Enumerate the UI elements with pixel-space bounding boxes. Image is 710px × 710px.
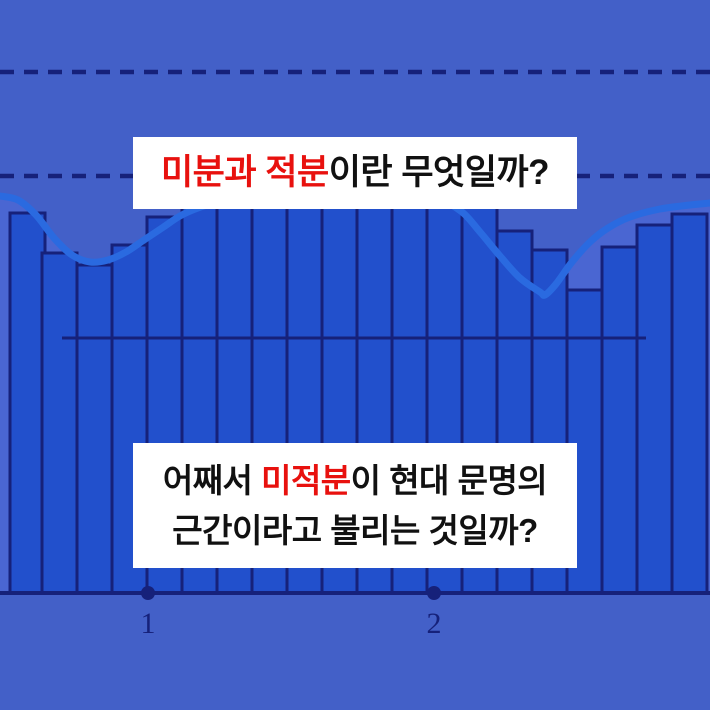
x-tick-dot-1 [141,586,155,600]
bar-18 [602,247,637,593]
question-line-1-rest: 이 현대 문명의 [351,462,548,499]
bar-20 [672,214,707,593]
x-tick-label-1: 1 [141,607,156,640]
title-rest-text: 이란 무엇일까? [329,153,549,192]
question-text-card: 어째서 미적분이 현대 문명의 근간이라고 불리는 것일까? [133,443,577,568]
question-line-2-rest: 근간이라고 불리는 것일까? [172,512,537,549]
x-tick-dot-2 [427,586,441,600]
riemann-sum-chart: 12 [0,0,710,710]
question-highlight-text: 미적분 [261,462,351,499]
question-line-2: 근간이라고 불리는 것일까? [172,506,537,556]
bar-1 [10,213,45,593]
question-line-1-prefix: 어째서 [163,462,261,499]
question-line-1: 어째서 미적분이 현대 문명의 [163,456,547,506]
bar-19 [637,225,672,593]
title-line-1: 미분과 적분이란 무엇일까? [161,153,549,193]
bar-3 [77,265,112,593]
title-text-card: 미분과 적분이란 무엇일까? [133,137,577,209]
title-highlight-text: 미분과 적분 [161,153,329,192]
x-tick-label-2: 2 [427,607,442,640]
poster-root: 12 미분과 적분이란 무엇일까? 어째서 미적분이 현대 문명의 근간이라고 … [0,0,710,710]
bar-2 [42,253,77,593]
